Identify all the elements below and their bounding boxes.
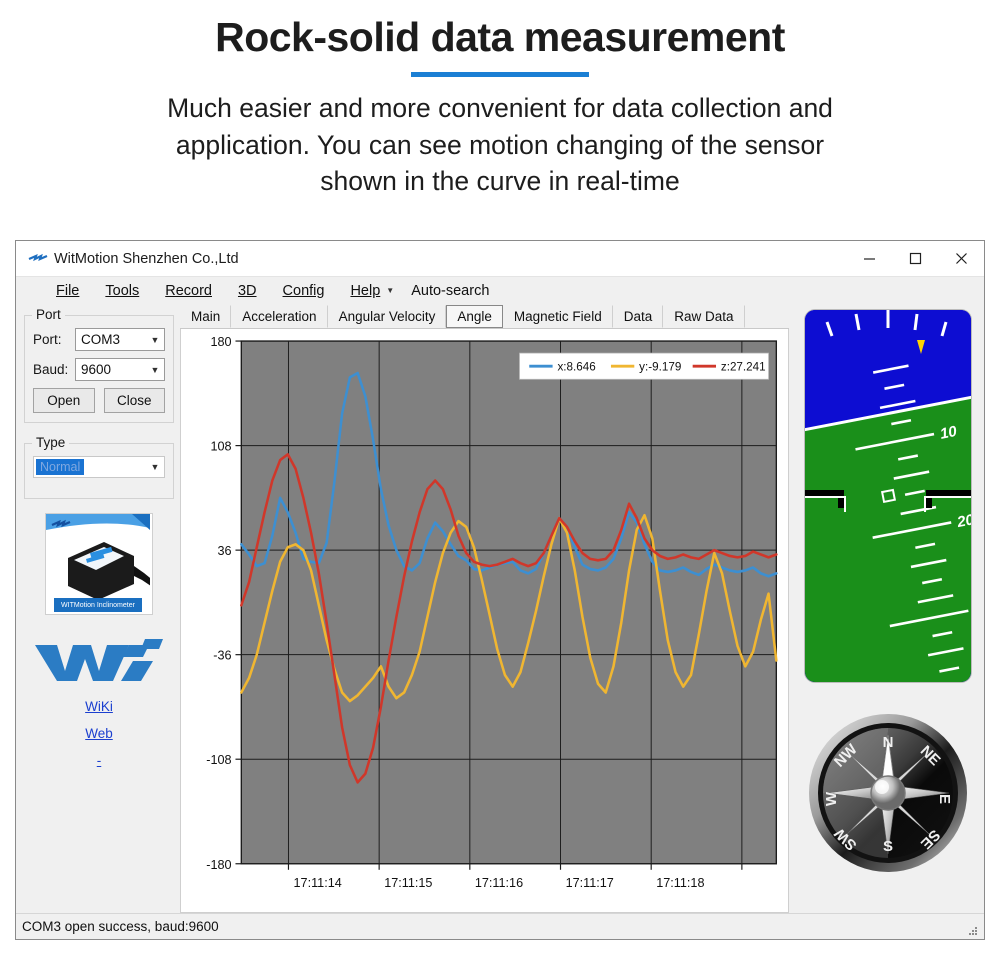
menu-config-label: Config xyxy=(283,283,325,299)
artificial-horizon-svg: 10 20 xyxy=(805,310,971,682)
tab-angle[interactable]: Angle xyxy=(446,305,503,328)
tab-strip: Main Acceleration Angular Velocity Angle… xyxy=(180,304,789,329)
svg-text:z:27.241: z:27.241 xyxy=(721,360,766,374)
wiki-link[interactable]: WiKi xyxy=(24,699,174,714)
svg-text:17:11:15: 17:11:15 xyxy=(384,875,432,890)
page-title: Rock-solid data measurement xyxy=(0,14,1000,61)
attitude-indicator: 10 20 xyxy=(805,310,971,682)
title-underline-rule xyxy=(411,72,589,77)
web-link[interactable]: Web xyxy=(24,726,174,741)
wit-brand-logo-icon xyxy=(33,637,165,685)
chevron-down-icon[interactable]: ▼ xyxy=(386,286,394,295)
maximize-button[interactable] xyxy=(892,242,938,276)
menu-3d-label: 3D xyxy=(238,283,257,299)
chevron-down-icon: ▼ xyxy=(146,335,164,345)
baud-select-value: 9600 xyxy=(76,362,146,377)
chart-panel: Main Acceleration Angular Velocity Angle… xyxy=(180,304,789,913)
promo-subtitle-line-2: application. You can see motion changing… xyxy=(50,127,950,164)
close-port-button[interactable]: Close xyxy=(104,388,166,413)
svg-text:-108: -108 xyxy=(206,752,231,767)
left-sidebar: Port Port: COM3 ▼ Baud: 9600 ▼ Op xyxy=(20,304,174,913)
port-group-legend: Port xyxy=(32,307,65,322)
menu-bar: File Tools Record 3D Config Help ▼ Auto-… xyxy=(16,277,984,304)
compass-label-s: S xyxy=(882,838,892,855)
baud-select[interactable]: 9600 ▼ xyxy=(75,358,165,381)
product-photo: WITMotion Inclinometer xyxy=(45,513,153,615)
svg-text:17:11:16: 17:11:16 xyxy=(475,875,523,890)
chevron-down-icon: ▼ xyxy=(146,462,164,472)
svg-text:WITMotion Inclinometer: WITMotion Inclinometer xyxy=(61,602,136,609)
port-label: Port: xyxy=(33,332,75,347)
angle-line-chart[interactable]: 18010836-36-108-18017:11:1417:11:1517:11… xyxy=(181,329,788,912)
svg-text:-36: -36 xyxy=(213,648,231,663)
promo-header: Rock-solid data measurement Much easier … xyxy=(0,0,1000,200)
tab-main[interactable]: Main xyxy=(180,305,231,328)
menu-item-file[interactable]: File xyxy=(43,281,92,301)
port-field-row: Port: COM3 ▼ xyxy=(33,328,165,351)
menu-item-help[interactable]: Help xyxy=(337,281,393,301)
minimize-icon xyxy=(863,252,876,265)
promo-subtitle-line-1: Much easier and more convenient for data… xyxy=(50,90,950,127)
close-button[interactable] xyxy=(938,242,984,276)
svg-text:180: 180 xyxy=(211,334,232,349)
open-port-button[interactable]: Open xyxy=(33,388,95,413)
compass-label-w: W xyxy=(823,791,840,806)
svg-text:17:11:14: 17:11:14 xyxy=(294,875,342,890)
menu-item-3d[interactable]: 3D xyxy=(225,281,270,301)
compass-label-n: N xyxy=(882,734,893,751)
menu-item-config[interactable]: Config xyxy=(270,281,338,301)
close-icon xyxy=(955,252,968,265)
port-select-value: COM3 xyxy=(76,332,146,347)
menu-item-record[interactable]: Record xyxy=(152,281,225,301)
tab-data[interactable]: Data xyxy=(613,305,664,328)
menu-file-label: File xyxy=(56,283,79,299)
menu-help-label: Help xyxy=(350,283,380,299)
type-group: Type Normal ▼ xyxy=(24,443,174,499)
status-message: COM3 open success, baud:9600 xyxy=(22,919,219,934)
svg-text:17:11:18: 17:11:18 xyxy=(656,875,704,890)
promo-subtitle: Much easier and more convenient for data… xyxy=(50,90,950,200)
instrument-panel: 10 20 xyxy=(795,304,981,913)
port-button-row: Open Close xyxy=(33,388,165,413)
type-group-legend: Type xyxy=(32,435,69,450)
status-bar: COM3 open success, baud:9600 xyxy=(16,913,984,939)
svg-text:-180: -180 xyxy=(206,857,231,872)
menu-item-auto-search[interactable]: Auto-search xyxy=(398,281,502,301)
menu-record-label: Record xyxy=(165,283,212,299)
menu-tools-label: Tools xyxy=(105,283,139,299)
tab-acceleration[interactable]: Acceleration xyxy=(231,305,327,328)
type-select[interactable]: Normal ▼ xyxy=(33,456,165,478)
port-select[interactable]: COM3 ▼ xyxy=(75,328,165,351)
window-title: WitMotion Shenzhen Co.,Ltd xyxy=(54,251,239,267)
port-group: Port Port: COM3 ▼ Baud: 9600 ▼ Op xyxy=(24,315,174,423)
minimize-button[interactable] xyxy=(846,242,892,276)
extra-link[interactable]: - xyxy=(24,753,174,768)
svg-text:x:8.646: x:8.646 xyxy=(557,360,596,374)
type-select-value: Normal xyxy=(36,459,84,475)
application-window: WitMotion Shenzhen Co.,Ltd File Tools Re… xyxy=(15,240,985,940)
window-body: Port Port: COM3 ▼ Baud: 9600 ▼ Op xyxy=(16,304,984,913)
sidebar-spacer xyxy=(24,768,174,913)
baud-field-row: Baud: 9600 ▼ xyxy=(33,358,165,381)
compass-label-e: E xyxy=(936,794,953,804)
compass-icon: N NE E SE S SW W NW xyxy=(807,712,970,875)
compass-widget: N NE E SE S SW W NW xyxy=(807,712,970,875)
maximize-icon xyxy=(909,252,922,265)
svg-text:17:11:17: 17:11:17 xyxy=(566,875,614,890)
window-titlebar: WitMotion Shenzhen Co.,Ltd xyxy=(16,241,984,277)
svg-text:108: 108 xyxy=(211,438,232,453)
svg-text:y:-9.179: y:-9.179 xyxy=(639,360,682,374)
promo-subtitle-line-3: shown in the curve in real-time xyxy=(50,163,950,200)
svg-text:36: 36 xyxy=(218,543,232,558)
tab-angular-velocity[interactable]: Angular Velocity xyxy=(328,305,447,328)
menu-item-tools[interactable]: Tools xyxy=(92,281,152,301)
resize-grip-icon[interactable] xyxy=(967,924,979,936)
chart-container[interactable]: 18010836-36-108-18017:11:1417:11:1517:11… xyxy=(180,329,789,913)
witmotion-bird-logo-icon xyxy=(28,252,48,266)
sidebar-links: WiKi Web - xyxy=(24,699,174,768)
chevron-down-icon: ▼ xyxy=(146,365,164,375)
baud-label: Baud: xyxy=(33,362,75,377)
tab-raw-data[interactable]: Raw Data xyxy=(663,305,744,328)
tab-magnetic-field[interactable]: Magnetic Field xyxy=(503,305,613,328)
